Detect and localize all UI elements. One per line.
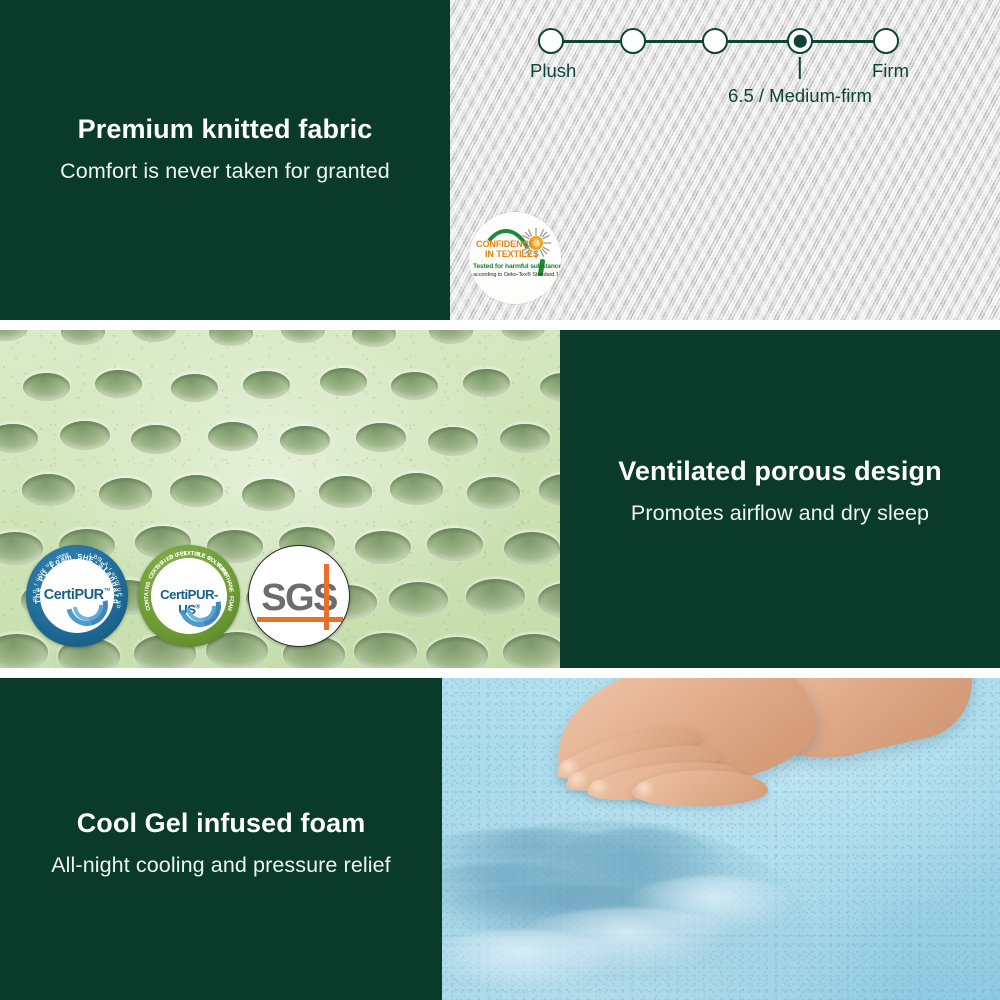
oeko-tex-line3: Tested for harmful substances [473,263,561,270]
firmness-node-1[interactable] [538,28,564,54]
panel-headline-ventilated-porous-design: Ventilated porous design [578,455,982,487]
panel-image-green-perforated-foam: The PU Foam SHE-Standard CertiPUR™ by Eu… [0,330,560,668]
foam-ventilation-hole [390,473,443,504]
foam-ventilation-hole [428,427,478,457]
badge-sgs-wordmark: SGS [249,577,349,620]
feature-row-ventilated-porous-design: The PU Foam SHE-Standard CertiPUR™ by Eu… [0,330,1000,668]
panel-text-premium-knitted-fabric: Premium knitted fabric Comfort is never … [0,0,450,320]
foam-ventilation-hole [280,426,330,456]
badge-certipur-us: CONTAINS CERTIFIED FLEXIBLE POLYURETHANE… [138,545,240,647]
foam-ventilation-hole [466,579,525,614]
sgs-vertical-bar-icon [324,564,329,630]
foam-ventilation-hole [242,479,295,510]
fingernail-ring [588,779,611,799]
fingernail-little [635,781,655,799]
panel-headline-cool-gel-infused-foam: Cool Gel infused foam [18,807,424,839]
foam-ventilation-hole [23,373,70,401]
badge-certipur-ring-bottom: by Europur AISBL - www.europur.org [26,545,128,647]
foam-ventilation-hole [95,370,142,398]
panel-image-knitted-fabric: Plush Firm 6.5 / Medium-firm [450,0,1000,320]
foam-ventilation-hole [354,633,416,668]
foam-ventilation-hole [99,478,152,509]
badge-certipur-us-ring-bottom: WWW.CERTIPUR.US [138,545,240,647]
oeko-tex-line2: IN TEXTILES [485,249,539,259]
panel-subline-cool-gel-infused-foam: All-night cooling and pressure relief [18,852,424,879]
product-feature-infographic: Premium knitted fabric Comfort is never … [0,0,1000,1000]
panel-subline-premium-knitted-fabric: Comfort is never taken for granted [18,158,432,185]
oeko-tex-confidence-in-textiles-badge: CONFIDENCE IN TEXTILES Tested for harmfu… [469,212,561,304]
panel-subline-ventilated-porous-design: Promotes airflow and dry sleep [578,500,982,527]
foam-ventilation-hole [208,422,258,452]
firmness-node-4-selected[interactable] [787,28,813,54]
firmness-value-label: 6.5 / Medium-firm [728,85,872,107]
firmness-node-3[interactable] [702,28,728,54]
foam-ventilation-hole [22,474,75,505]
foam-ventilation-hole [500,424,550,454]
badge-sgs: SGS [248,545,350,647]
foam-ventilation-hole [503,634,560,668]
foam-ventilation-hole [170,475,223,506]
oeko-tex-line4: according to Oeko-Tex® Standard 100 [473,272,561,278]
firmness-node-2[interactable] [620,28,646,54]
oeko-tex-line1: CONFIDENCE [476,239,535,249]
firmness-label-plush: Plush [530,60,576,82]
feature-row-premium-knitted-fabric: Premium knitted fabric Comfort is never … [0,0,1000,320]
panel-text-cool-gel-infused-foam: Cool Gel infused foam All-night cooling … [0,678,442,1000]
foam-ventilation-hole [426,637,488,668]
feature-row-cool-gel-infused-foam: Cool Gel infused foam All-night cooling … [0,678,1000,1000]
foam-ventilation-hole [320,368,367,396]
foam-ventilation-hole [171,374,218,402]
foam-ventilation-hole [60,421,110,451]
foam-ventilation-hole [243,371,290,399]
foam-ventilation-hole [389,582,448,617]
panel-headline-premium-knitted-fabric: Premium knitted fabric [18,113,432,145]
badge-certipur: The PU Foam SHE-Standard CertiPUR™ by Eu… [26,545,128,647]
row-divider-1 [0,320,1000,330]
panel-image-blue-gel-foam [442,678,1000,1000]
imprint-ridge-2 [622,876,802,938]
foam-ventilation-hole [467,477,520,508]
row-divider-2 [0,668,1000,678]
panel-text-ventilated-porous-design: Ventilated porous design Promotes airflo… [560,330,1000,668]
firmness-selected-tick [799,57,801,79]
firmness-node-5[interactable] [873,28,899,54]
foam-ventilation-hole [319,476,372,507]
firmness-label-firm: Firm [872,60,909,82]
foam-ventilation-hole [391,372,438,400]
firmness-scale: Plush Firm 6.5 / Medium-firm [450,0,1000,120]
foam-ventilation-hole [463,369,510,397]
